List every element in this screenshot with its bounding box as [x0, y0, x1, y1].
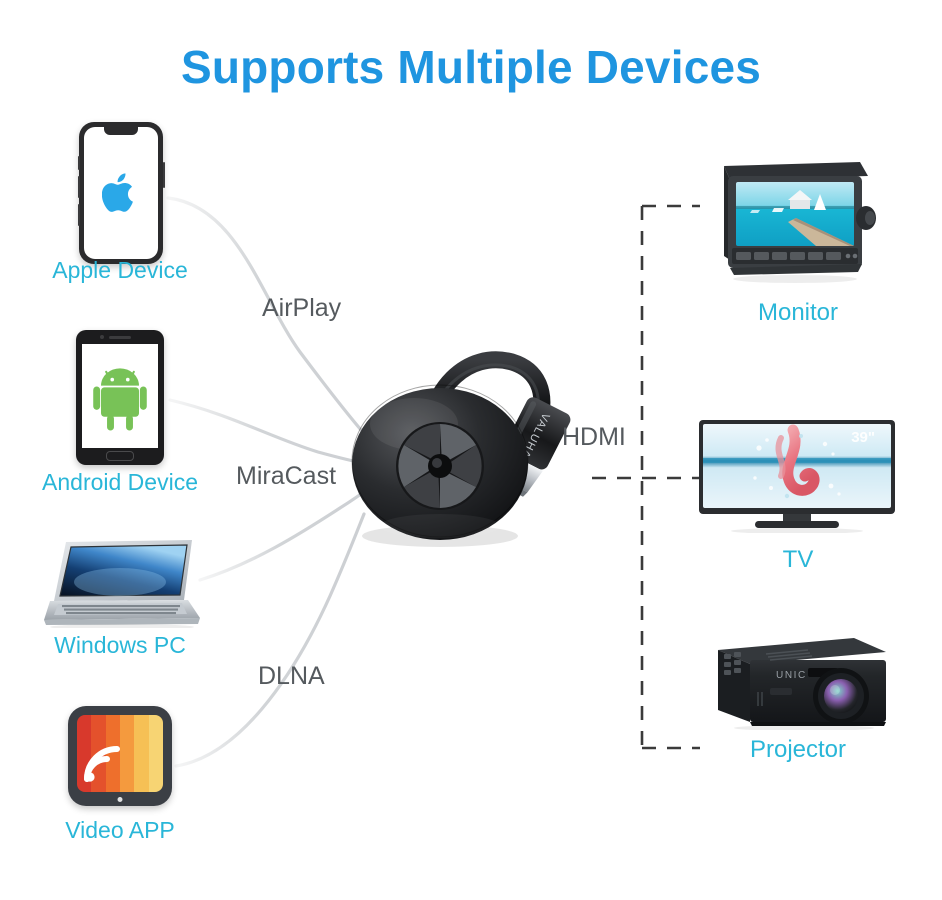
car-monitor-icon: [700, 160, 886, 285]
protocol-label-airplay: AirPlay: [262, 294, 341, 323]
projector-brand-text: UNIC: [776, 670, 807, 681]
label-apple-device: Apple Device: [20, 258, 220, 283]
apple-logo-icon: [102, 171, 140, 216]
android-device-icon: [76, 330, 164, 465]
protocol-label-miracast: MiraCast: [236, 462, 336, 491]
label-projector: Projector: [700, 737, 896, 763]
tv-size-badge: 39": [851, 429, 875, 446]
label-android-device: Android Device: [20, 470, 220, 495]
label-tv: TV: [700, 547, 896, 573]
connection-label-hdmi: HDMI: [562, 423, 626, 452]
label-video-app: Video APP: [20, 818, 220, 843]
projector-icon: UNIC: [704, 630, 891, 730]
video-app-icon: [68, 706, 172, 806]
protocol-label-dlna: DLNA: [258, 662, 325, 691]
android-robot-icon: [82, 344, 158, 448]
aperture-shutter-icon: [396, 422, 484, 510]
cast-signal-icon: [82, 742, 126, 786]
flat-tv-icon: 39": [697, 418, 897, 533]
label-windows-pc: Windows PC: [20, 633, 220, 658]
laptop-icon: [44, 538, 202, 628]
label-monitor: Monitor: [700, 300, 896, 326]
apple-device-icon: [79, 122, 163, 264]
wireless-display-dongle-icon: VALUHA: [340, 340, 590, 565]
infographic-canvas: Supports Multiple Devices: [0, 0, 942, 900]
